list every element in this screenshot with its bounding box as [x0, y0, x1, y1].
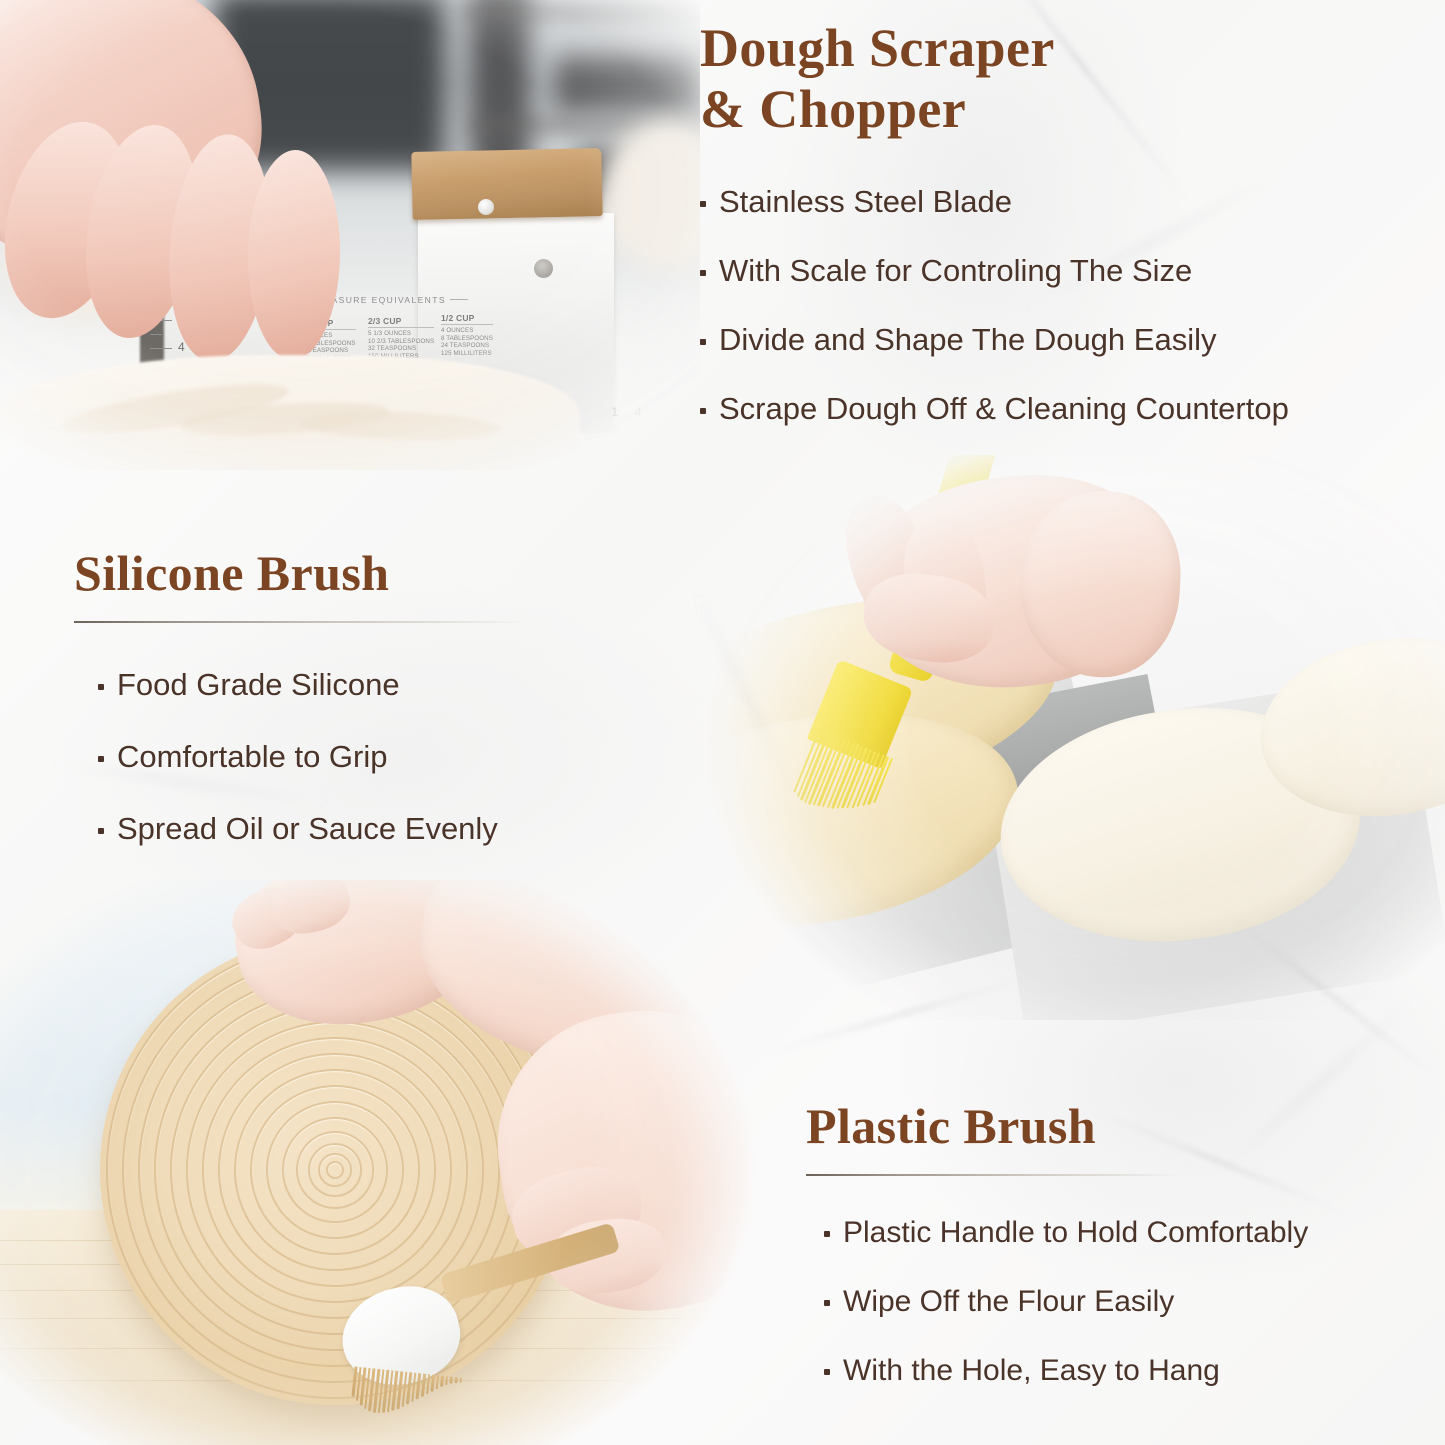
product-infographic: MEASURE EQUIVALENTS 3/4 CUP 6 OUNCES 12 …	[0, 0, 1445, 1445]
heading-divider	[74, 621, 529, 623]
heading-plastic-brush: Plastic Brush	[806, 1098, 1445, 1155]
bullet-icon	[98, 756, 104, 762]
heading-divider	[806, 1174, 1179, 1176]
feature-list-dough-scraper: Stainless Steel Blade With Scale for Con…	[700, 184, 1445, 427]
feature-text: Food Grade Silicone	[117, 667, 400, 703]
feature-text: Plastic Handle to Hold Comfortably	[843, 1216, 1308, 1250]
feature-item: Spread Oil or Sauce Evenly	[98, 811, 594, 847]
feature-text: Comfortable to Grip	[117, 739, 388, 775]
scraper-wooden-handle	[411, 148, 602, 220]
feature-text: Scrape Dough Off & Cleaning Countertop	[719, 391, 1289, 427]
heading-line-1: Dough Scraper	[700, 18, 1055, 78]
bullet-icon	[700, 339, 706, 345]
measure-cell: 2/3 CUP 5 1/3 OUNCES 10 2/3 TABLESPOONS …	[368, 316, 434, 360]
feature-text: With Scale for Controling The Size	[719, 253, 1192, 289]
heading-dough-scraper: Dough Scraper & Chopper	[700, 18, 1445, 140]
bullet-icon	[824, 1231, 830, 1237]
scraper-hang-hole	[534, 259, 553, 278]
measure-cell: 1/2 CUP 4 OUNCES 8 TABLESPOONS 24 TEASPO…	[441, 313, 493, 357]
scraper-rivet	[478, 199, 494, 215]
feature-text: Divide and Shape The Dough Easily	[719, 322, 1216, 358]
feature-item: Stainless Steel Blade	[700, 184, 1445, 220]
feature-item: Comfortable to Grip	[98, 739, 594, 775]
bullet-icon	[700, 201, 706, 207]
bullet-icon	[98, 828, 104, 834]
feature-list-plastic-brush: Plastic Handle to Hold Comfortably Wipe …	[806, 1216, 1445, 1388]
section-dough-scraper: Dough Scraper & Chopper Stainless Steel …	[700, 18, 1445, 460]
feature-text: Spread Oil or Sauce Evenly	[117, 811, 498, 847]
heading-silicone-brush: Silicone Brush	[74, 545, 594, 602]
feature-text: Stainless Steel Blade	[719, 184, 1012, 220]
section-plastic-brush: Plastic Brush Plastic Handle to Hold Com…	[806, 1098, 1445, 1423]
feature-item: Plastic Handle to Hold Comfortably	[824, 1216, 1445, 1250]
bullet-icon	[700, 408, 706, 414]
bullet-icon	[700, 270, 706, 276]
feature-item: With the Hole, Easy to Hang	[824, 1354, 1445, 1388]
bullet-icon	[98, 684, 104, 690]
heading-line-2: & Chopper	[700, 79, 966, 139]
feature-item: Wipe Off the Flour Easily	[824, 1285, 1445, 1319]
bullet-icon	[824, 1369, 830, 1375]
feature-item: Divide and Shape The Dough Easily	[700, 322, 1445, 358]
feature-item: Scrape Dough Off & Cleaning Countertop	[700, 391, 1445, 427]
feature-list-silicone-brush: Food Grade Silicone Comfortable to Grip …	[74, 667, 594, 847]
photo-dough-scraper: MEASURE EQUIVALENTS 3/4 CUP 6 OUNCES 12 …	[0, 0, 700, 470]
background-blur	[555, 56, 700, 111]
feature-text: With the Hole, Easy to Hang	[843, 1354, 1220, 1388]
bullet-icon	[824, 1300, 830, 1306]
feature-item: Food Grade Silicone	[98, 667, 594, 703]
photo-silicone-brush	[700, 455, 1445, 1020]
photo-banneton-basket	[0, 880, 790, 1445]
shelf-blur	[462, 6, 700, 18]
section-silicone-brush: Silicone Brush Food Grade Silicone Comfo…	[74, 545, 594, 883]
feature-text: Wipe Off the Flour Easily	[843, 1285, 1174, 1319]
feature-item: With Scale for Controling The Size	[700, 253, 1445, 289]
